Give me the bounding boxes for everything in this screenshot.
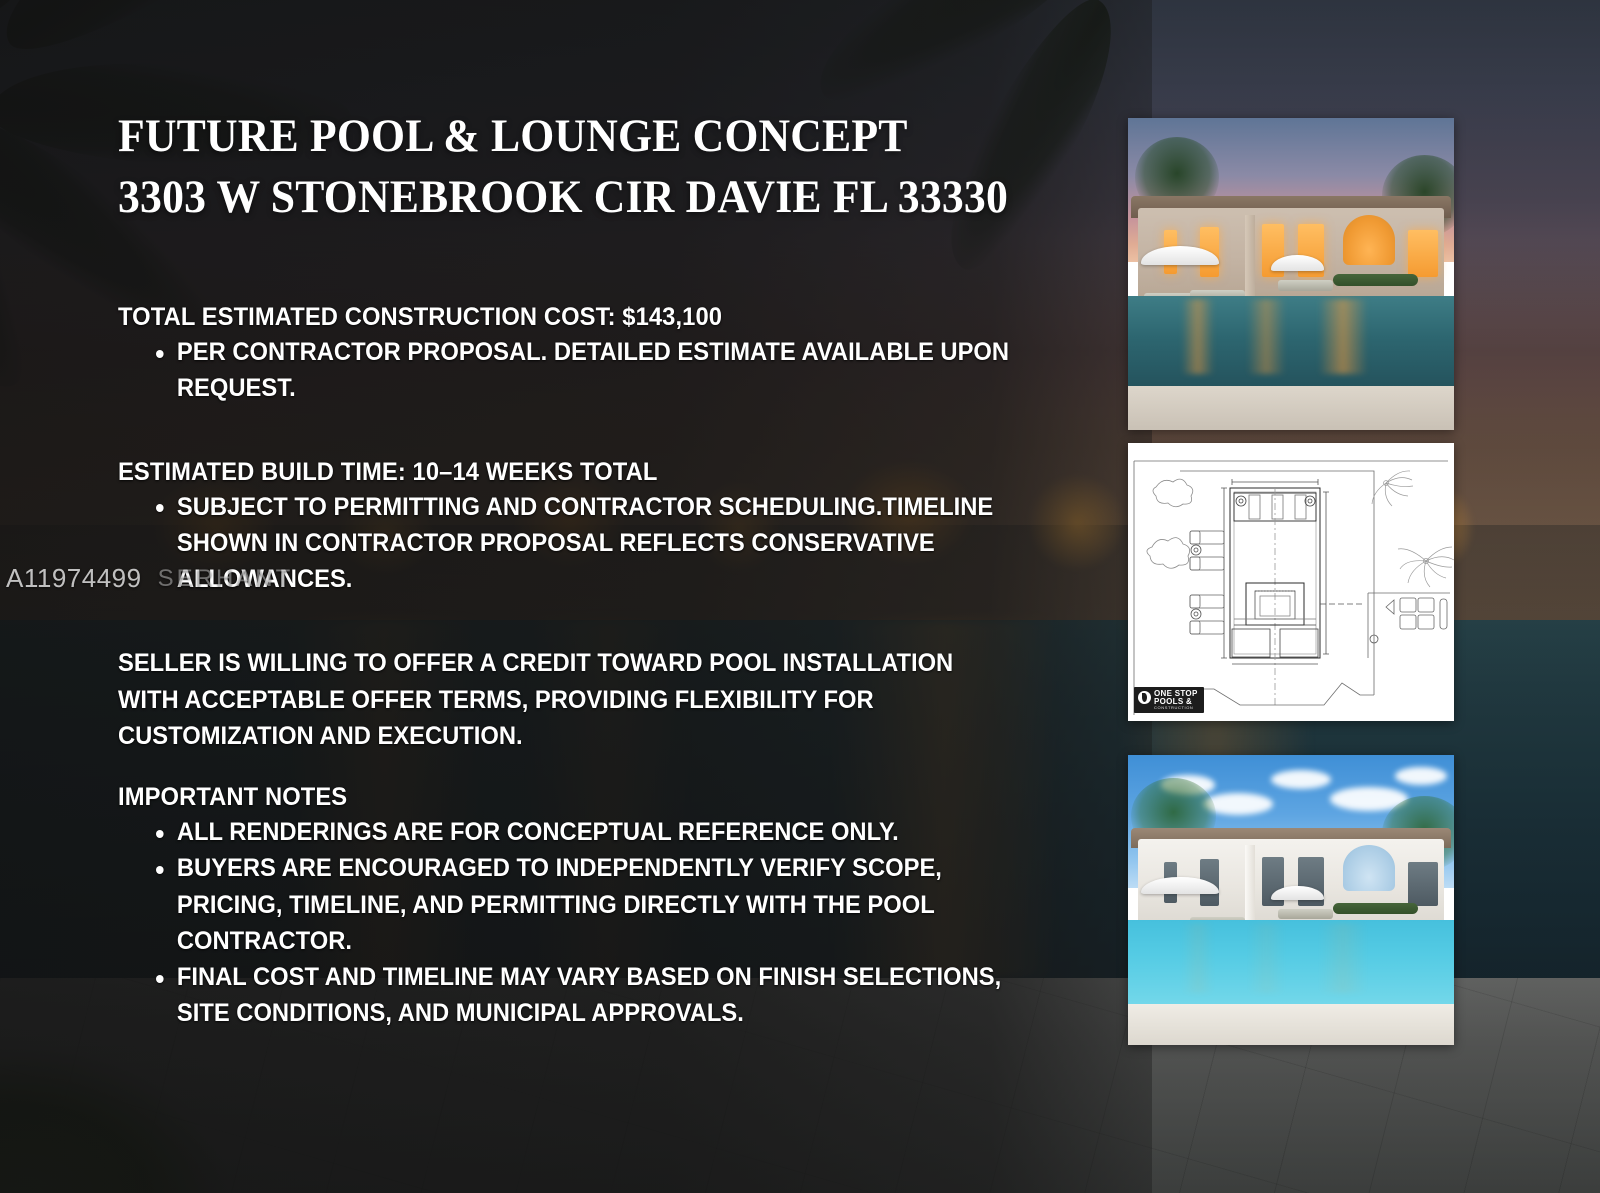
arched-window <box>1343 845 1395 891</box>
thumbnail-stack: ONE STOP POOLS & CONSTRUCTION <box>1128 0 1454 1193</box>
thumbnail-daytime-pool-rendering[interactable] <box>1128 755 1454 1045</box>
cloud <box>1271 770 1331 789</box>
cad-drawing: ONE STOP POOLS & CONSTRUCTION <box>1128 443 1454 721</box>
hedge-row <box>1333 903 1418 915</box>
arched-window <box>1343 215 1395 265</box>
lit-window <box>1408 230 1437 277</box>
flyer-canvas: FUTURE POOL & LOUNGE CONCEPT 3303 W STON… <box>0 0 1600 1193</box>
pool-deck <box>1128 386 1454 430</box>
section-bullet-list: SUBJECT TO PERMITTING AND CONTRACTOR SCH… <box>118 489 1068 598</box>
list-item: PER CONTRACTOR PROPOSAL. DETAILED ESTIMA… <box>156 334 1022 407</box>
window <box>1408 862 1437 906</box>
pool-lounger <box>1278 909 1333 919</box>
section-heading: ESTIMATED BUILD TIME: 10–14 WEEKS TOTAL <box>118 455 1021 489</box>
title-line-1: FUTURE POOL & LOUNGE CONCEPT <box>118 106 1002 167</box>
cad-linework <box>1128 443 1454 721</box>
pool-lounger <box>1278 280 1333 291</box>
thumbnail-sunset-pool-rendering[interactable] <box>1128 118 1454 430</box>
pool-logo-mark-icon <box>1138 691 1151 704</box>
portico-column <box>1245 845 1255 920</box>
thumbnail-pool-cad-site-plan[interactable]: ONE STOP POOLS & CONSTRUCTION <box>1128 443 1454 721</box>
seller-credit-paragraph: SELLER IS WILLING TO OFFER A CREDIT TOWA… <box>118 645 1002 754</box>
spacer <box>118 615 1068 645</box>
list-item: ALL RENDERINGS ARE FOR CONCEPTUAL REFERE… <box>156 814 1022 850</box>
hedge-row <box>1333 274 1418 286</box>
render-scene <box>1128 755 1454 1045</box>
section-important-notes: IMPORTANT NOTES ALL RENDERINGS ARE FOR C… <box>118 780 1068 1032</box>
section-build-time: ESTIMATED BUILD TIME: 10–14 WEEKS TOTAL … <box>118 455 1068 598</box>
page-title: FUTURE POOL & LOUNGE CONCEPT 3303 W STON… <box>118 106 1068 228</box>
water-reflections <box>1154 299 1428 374</box>
water-reflections <box>1154 923 1428 993</box>
pool-deck <box>1128 1004 1454 1045</box>
list-item: BUYERS ARE ENCOURAGED TO INDEPENDENTLY V… <box>156 850 1022 959</box>
list-item: SUBJECT TO PERMITTING AND CONTRACTOR SCH… <box>156 489 1022 598</box>
portico-column <box>1245 215 1255 296</box>
spacer <box>118 754 1068 780</box>
notes-list: ALL RENDERINGS ARE FOR CONCEPTUAL REFERE… <box>118 814 1068 1032</box>
logo-line-3: CONSTRUCTION <box>1154 706 1198 710</box>
list-item: FINAL COST AND TIMELINE MAY VARY BASED O… <box>156 959 1022 1032</box>
notes-heading: IMPORTANT NOTES <box>118 780 1021 814</box>
cloud <box>1395 767 1447 785</box>
text-column: FUTURE POOL & LOUNGE CONCEPT 3303 W STON… <box>118 0 1078 1193</box>
spacer <box>118 425 1068 455</box>
body-content: TOTAL ESTIMATED CONSTRUCTION COST: $143,… <box>118 300 1068 1050</box>
one-stop-pools-logo: ONE STOP POOLS & CONSTRUCTION <box>1134 687 1204 713</box>
section-bullet-list: PER CONTRACTOR PROPOSAL. DETAILED ESTIMA… <box>118 334 1068 407</box>
render-scene <box>1128 118 1454 430</box>
title-line-2: 3303 W STONEBROOK CIR DAVIE FL 33330 <box>118 167 1002 228</box>
section-heading: TOTAL ESTIMATED CONSTRUCTION COST: $143,… <box>118 300 1021 334</box>
section-construction-cost: TOTAL ESTIMATED CONSTRUCTION COST: $143,… <box>118 300 1068 407</box>
